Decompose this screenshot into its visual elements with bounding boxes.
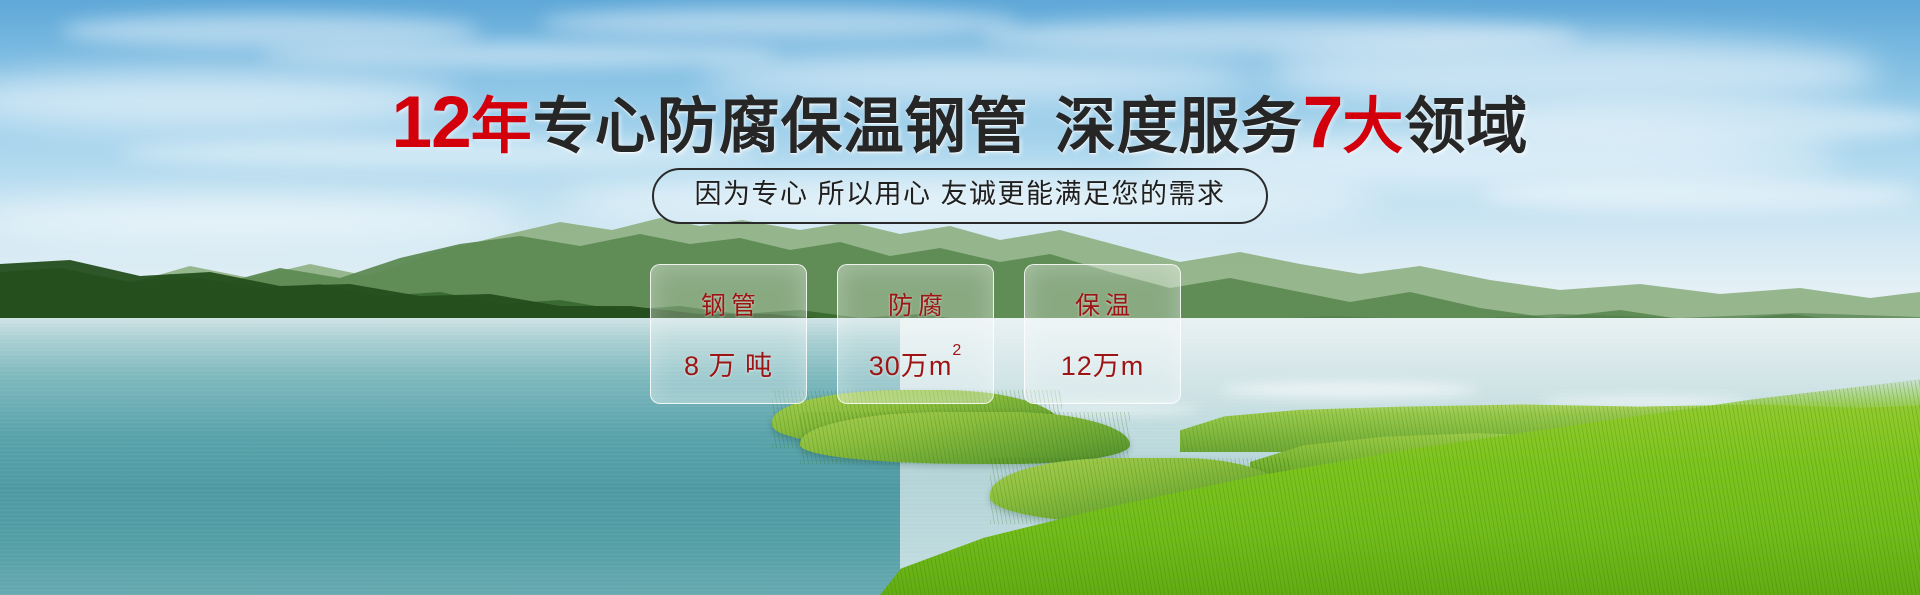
subtitle-pill: 因为专心 所以用心 友诚更能满足您的需求 xyxy=(652,168,1267,224)
headline-years-unit: 年 xyxy=(471,92,533,160)
stat-card-label: 保温 xyxy=(1070,286,1135,322)
stat-card-steel-pipe[interactable]: 钢管 8 万 吨 xyxy=(650,264,807,404)
stat-card-anticorrosion[interactable]: 防腐 30万m2 xyxy=(837,264,994,404)
headline-fields-number: 7 xyxy=(1303,82,1343,163)
stat-card-value-text: 8 万 吨 xyxy=(684,351,773,381)
stat-cards: 钢管 8 万 吨 防腐 30万m2 保温 12万m xyxy=(650,264,1181,404)
stat-card-label: 钢管 xyxy=(696,286,761,322)
subtitle-wrapper: 因为专心 所以用心 友诚更能满足您的需求 xyxy=(0,168,1920,224)
stat-card-label: 防腐 xyxy=(883,286,948,322)
banner-content: 12年专心防腐保温钢管深度服务7大领域 因为专心 所以用心 友诚更能满足您的需求… xyxy=(0,0,1920,595)
stat-card-insulation[interactable]: 保温 12万m xyxy=(1024,264,1181,404)
stat-card-value: 30万m2 xyxy=(869,344,962,383)
hero-banner: 12年专心防腐保温钢管深度服务7大领域 因为专心 所以用心 友诚更能满足您的需求… xyxy=(0,0,1920,595)
headline-part-3: 领域 xyxy=(1404,92,1528,160)
headline-fields-unit: 大 xyxy=(1342,92,1404,160)
stat-card-value: 8 万 吨 xyxy=(684,344,773,383)
headline-years-number: 12 xyxy=(392,82,471,163)
headline-part-2: 深度服务 xyxy=(1055,92,1303,160)
stat-card-value-superscript: 2 xyxy=(952,342,962,359)
headline-part-1: 专心防腐保温钢管 xyxy=(533,92,1029,160)
stat-card-value-text: 30万m xyxy=(869,351,953,381)
headline: 12年专心防腐保温钢管深度服务7大领域 xyxy=(0,86,1920,159)
stat-card-value-text: 12万m xyxy=(1061,351,1145,381)
stat-card-value: 12万m xyxy=(1061,344,1145,383)
